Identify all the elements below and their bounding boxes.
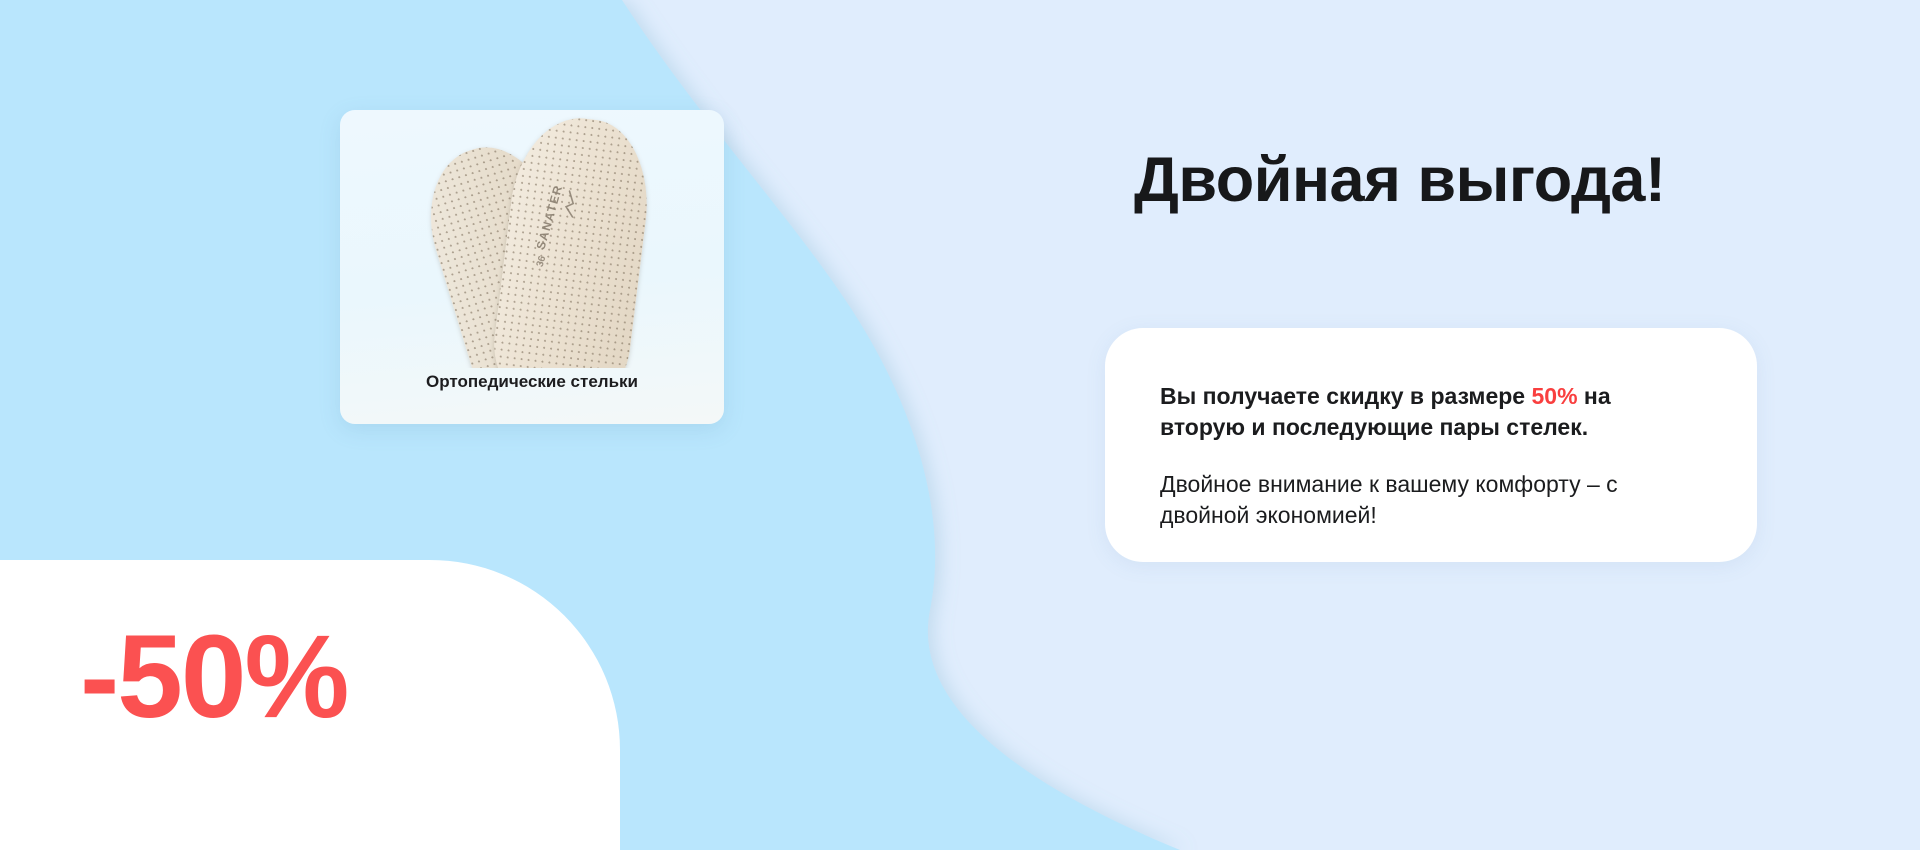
- info-card: Вы получаете скидку в размере 50% на вто…: [1105, 328, 1757, 562]
- product-image: SANATER 36: [340, 110, 724, 368]
- page-title: Двойная выгода!: [1134, 146, 1665, 215]
- info-paragraph-primary: Вы получаете скидку в размере 50% на вто…: [1160, 381, 1701, 442]
- discount-value: -50%: [80, 618, 347, 736]
- info-paragraph-secondary: Двойное внимание к вашему комфорту – с д…: [1160, 469, 1701, 530]
- info-text-before: Вы получаете скидку в размере: [1160, 383, 1531, 409]
- product-caption: Ортопедические стельки: [340, 372, 724, 392]
- info-card-body: Вы получаете скидку в размере 50% на вто…: [1105, 328, 1757, 530]
- promo-banner: SANATER 36 Ортопедические стельки Двойна…: [0, 0, 1920, 850]
- product-card[interactable]: SANATER 36 Ортопедические стельки: [340, 110, 724, 424]
- insole-shape-front: [487, 111, 658, 368]
- discount-badge: -50%: [0, 560, 620, 850]
- discount-highlight: 50%: [1531, 383, 1577, 409]
